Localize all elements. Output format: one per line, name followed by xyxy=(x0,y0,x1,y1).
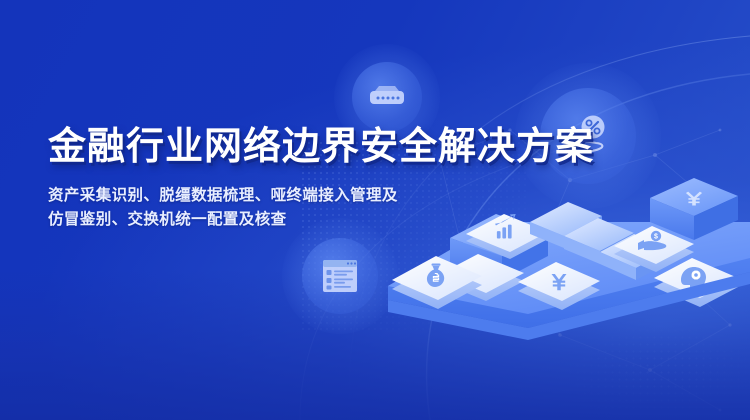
isometric-finance-platform: $ xyxy=(378,176,750,356)
document-checklist-icon xyxy=(320,258,360,294)
badge-glow xyxy=(352,62,422,132)
document-checklist-badge xyxy=(302,238,378,314)
badge-glow xyxy=(302,238,378,314)
page-title: 金融行业网络边界安全解决方案 xyxy=(48,124,594,170)
svg-text:$: $ xyxy=(654,234,658,241)
finance-security-banner: 金融行业网络边界安全解决方案 资产采集识别、脱缰数据梳理、哑终端接入管理及 仿冒… xyxy=(0,0,750,420)
page-subtitle: 资产采集识别、脱缰数据梳理、哑终端接入管理及 仿冒鉴别、交换机统一配置及核查 xyxy=(48,184,398,232)
network-switch-badge xyxy=(352,62,422,132)
network-switch-icon xyxy=(367,83,407,111)
subtitle-line-1: 资产采集识别、脱缰数据梳理、哑终端接入管理及 xyxy=(48,184,398,208)
subtitle-line-2: 仿冒鉴别、交换机统一配置及核查 xyxy=(48,208,398,232)
